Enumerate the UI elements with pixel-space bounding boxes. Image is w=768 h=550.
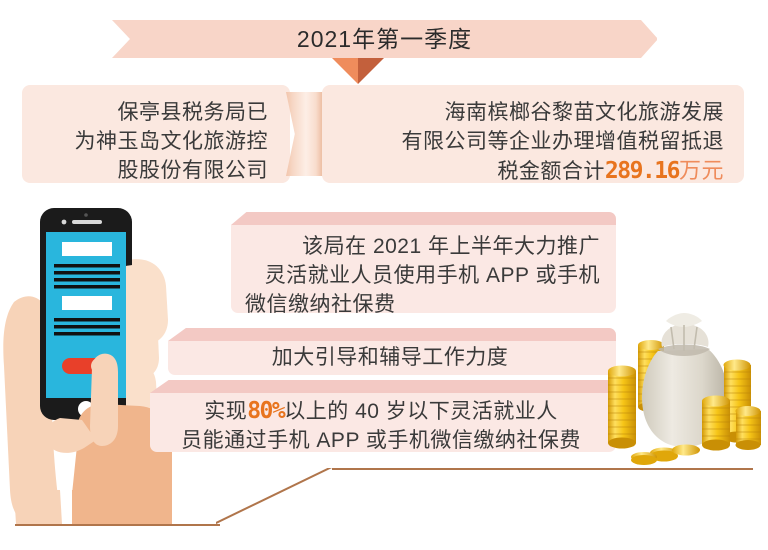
guidance-line-1: 加大引导和辅导工作力度: [182, 343, 598, 372]
refund-line-2: 有限公司等企业办理增值税留抵退: [338, 127, 724, 156]
target-line-1: 实现80%以上的 40 岁以下灵活就业人: [162, 397, 600, 426]
promotion-box-body: 该局在 2021 年上半年大力推广 灵活就业人员使用手机 APP 或手机 微信缴…: [231, 225, 616, 313]
promotion-line-2: 灵活就业人员使用手机 APP 或手机: [245, 261, 600, 290]
down-arrow-icon: [332, 58, 358, 84]
ground-line-right: [332, 468, 753, 470]
guidance-box-top-band: [168, 328, 616, 341]
refund-amount-box: 海南槟榔谷黎苗文化旅游发展 有限公司等企业办理增值税留抵退 税金额合计289.1…: [322, 85, 744, 183]
coin-stack-left-front: [608, 366, 636, 449]
target-highlight-value: 80%: [247, 398, 284, 424]
target-box: 实现80%以上的 40 岁以下灵活就业人 员能通过手机 APP 或手机微信缴纳社…: [150, 380, 616, 452]
promotion-line-1: 该局在 2021 年上半年大力推广: [245, 232, 600, 261]
coin-stack-right-short: [736, 406, 762, 450]
money-bag-illustration: [598, 305, 768, 475]
target-line-1-prefix: 实现: [204, 400, 247, 423]
coin-stack-right-mid: [702, 396, 730, 451]
infographic-root: 2021年第一季度 保亭县税务局已 为神玉岛文化旅游控 股股份有限公司 海南槟榔…: [0, 0, 768, 550]
refund-highlight-value: 289.16: [605, 158, 679, 184]
ribbon-fold-connector: [286, 92, 326, 176]
refund-line-3-prefix: 税金额合计: [497, 160, 605, 183]
ground-line-diagonal: [216, 468, 336, 526]
refund-highlight-unit: 万元: [679, 158, 724, 183]
promotion-box: 该局在 2021 年上半年大力推广 灵活就业人员使用手机 APP 或手机 微信缴…: [231, 212, 616, 313]
promotion-line-3: 微信缴纳社保费: [245, 290, 600, 319]
tax-bureau-box: 保亭县税务局已 为神玉岛文化旅游控 股股份有限公司: [22, 85, 290, 183]
tax-bureau-line-1: 保亭县税务局已: [38, 98, 268, 127]
promotion-box-top-band: [231, 212, 616, 225]
target-line-2: 员能通过手机 APP 或手机微信缴纳社保费: [162, 426, 600, 455]
tax-bureau-line-2: 为神玉岛文化旅游控: [38, 127, 268, 156]
target-box-top-band: [150, 380, 616, 393]
refund-line-3: 税金额合计289.16万元: [338, 156, 724, 186]
loose-coins: [631, 445, 700, 466]
ground-line-left: [15, 524, 220, 526]
tax-bureau-line-3: 股股份有限公司: [38, 156, 268, 185]
page-title: 2021年第一季度: [112, 20, 657, 58]
target-box-body: 实现80%以上的 40 岁以下灵活就业人 员能通过手机 APP 或手机微信缴纳社…: [150, 393, 616, 452]
down-arrow-icon-shadow: [358, 58, 384, 84]
refund-line-1: 海南槟榔谷黎苗文化旅游发展: [338, 98, 724, 127]
guidance-box: 加大引导和辅导工作力度: [168, 328, 616, 375]
target-line-1-suffix: 以上的 40 岁以下灵活就业人: [284, 400, 558, 423]
guidance-box-body: 加大引导和辅导工作力度: [168, 341, 616, 375]
